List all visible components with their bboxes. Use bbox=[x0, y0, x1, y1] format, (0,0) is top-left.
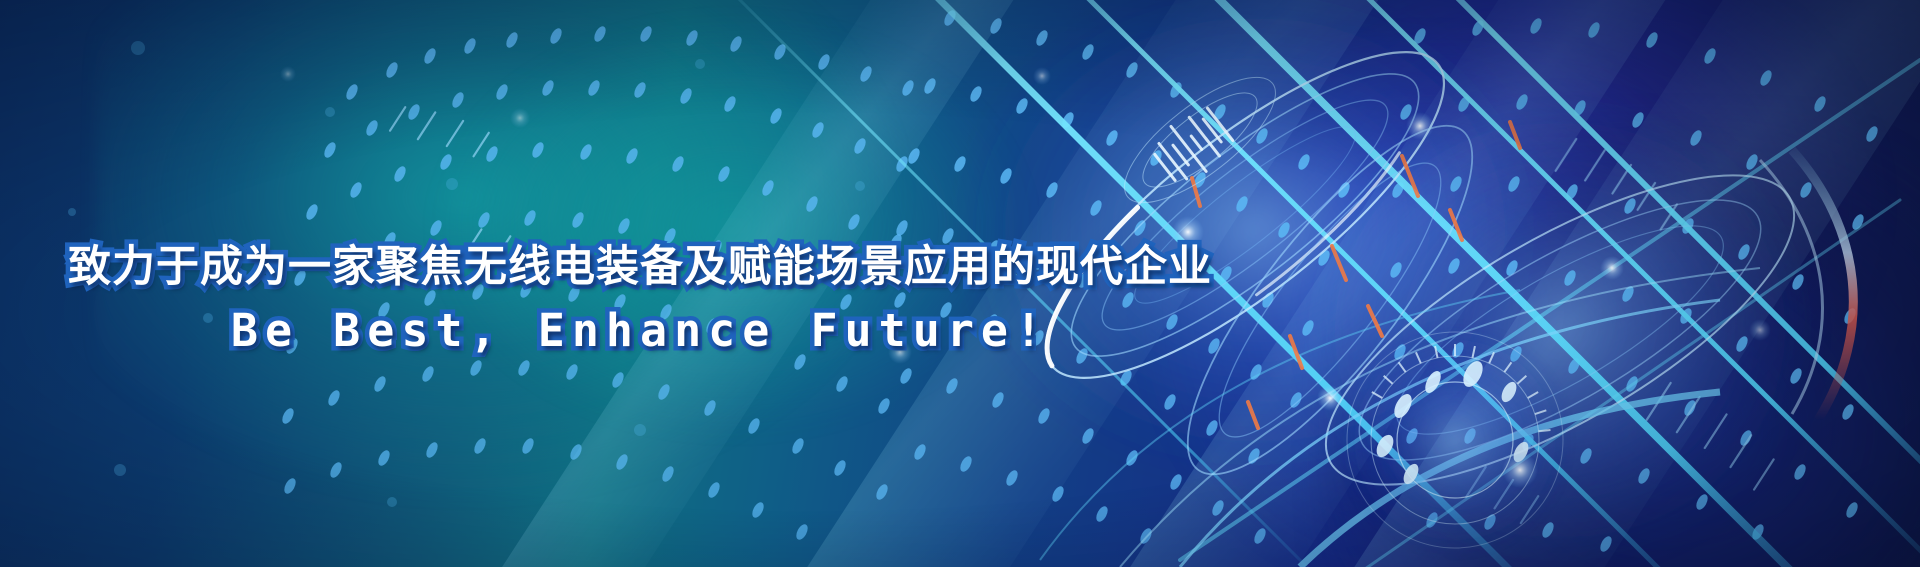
headline-chinese: 致力于成为一家聚焦无线电装备及赋能场景应用的现代企业 bbox=[0, 236, 1280, 298]
headline-english: Be Best, Enhance Future! bbox=[0, 298, 1280, 364]
hero-banner: 致力于成为一家聚焦无线电装备及赋能场景应用的现代企业 Be Best, Enha… bbox=[0, 0, 1920, 567]
headline-block: 致力于成为一家聚焦无线电装备及赋能场景应用的现代企业 Be Best, Enha… bbox=[0, 236, 1280, 364]
